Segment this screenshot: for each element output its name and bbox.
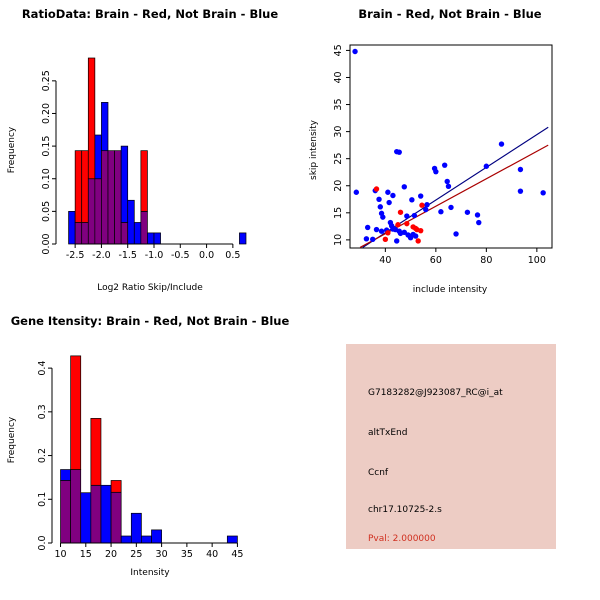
svg-text:-0.5: -0.5 [171, 250, 190, 261]
svg-text:40: 40 [206, 549, 218, 560]
svg-text:40: 40 [333, 71, 344, 83]
svg-text:45: 45 [333, 44, 344, 56]
svg-text:10: 10 [333, 234, 344, 246]
svg-text:0.3: 0.3 [37, 404, 48, 419]
svg-text:0.10: 0.10 [41, 168, 52, 189]
ratio-hist-svg: -2.5-2.0-1.5-1.0-0.50.00.50.000.050.100.… [0, 0, 300, 300]
svg-text:40: 40 [379, 255, 391, 266]
info-pval: Pval: 2.000000 [368, 534, 436, 544]
svg-text:30: 30 [333, 126, 344, 138]
svg-text:0.15: 0.15 [41, 136, 52, 157]
svg-text:10: 10 [54, 549, 66, 560]
scatter-title: Brain - Red, Not Brain - Blue [300, 7, 600, 21]
info-probe-id: G7183282@J923087_RC@i_at [368, 388, 503, 398]
ratio-hist-bars [69, 58, 246, 244]
gene-hist-title: Gene Itensity: Brain - Red, Not Brain - … [0, 314, 300, 328]
svg-text:20: 20 [333, 180, 344, 192]
svg-text:100: 100 [528, 255, 546, 266]
svg-text:80: 80 [480, 255, 492, 266]
svg-text:0.4: 0.4 [37, 361, 48, 376]
svg-text:35: 35 [181, 549, 193, 560]
svg-text:0.5: 0.5 [225, 250, 240, 261]
svg-text:60: 60 [430, 255, 442, 266]
svg-text:25: 25 [130, 549, 142, 560]
info-gene-symbol: Ccnf [368, 468, 388, 478]
svg-text:45: 45 [231, 549, 243, 560]
svg-text:-1.5: -1.5 [118, 250, 137, 261]
scatter-svg: 4060801001015202530354045 [300, 0, 600, 300]
scatter-axes: 4060801001015202530354045 [333, 44, 546, 266]
info-box: G7183282@J923087_RC@i_at altTxEnd Ccnf c… [346, 344, 556, 549]
svg-text:0.05: 0.05 [41, 201, 52, 222]
svg-text:35: 35 [333, 98, 344, 110]
svg-text:15: 15 [80, 549, 92, 560]
ratio-hist-title: RatioData: Brain - Red, Not Brain - Blue [0, 7, 300, 21]
svg-text:-2.0: -2.0 [92, 250, 111, 261]
panel-info: G7183282@J923087_RC@i_at altTxEnd Ccnf c… [300, 300, 600, 600]
scatter-points [352, 49, 546, 244]
svg-text:-1.0: -1.0 [145, 250, 164, 261]
svg-text:15: 15 [333, 207, 344, 219]
gene-hist-bars [61, 356, 238, 543]
svg-text:0.00: 0.00 [41, 233, 52, 254]
svg-text:0.0: 0.0 [199, 250, 214, 261]
svg-text:30: 30 [156, 549, 168, 560]
svg-text:0.25: 0.25 [41, 70, 52, 91]
svg-text:0.20: 0.20 [41, 103, 52, 124]
panel-ratio-histogram: RatioData: Brain - Red, Not Brain - Blue… [0, 0, 300, 300]
svg-text:25: 25 [333, 153, 344, 165]
svg-text:0.2: 0.2 [37, 448, 48, 463]
svg-text:20: 20 [105, 549, 117, 560]
info-coordinate: chr17.10725-2.s [368, 505, 442, 515]
gene-hist-svg: 10152025303540450.00.10.20.30.4 [0, 300, 300, 600]
panel-scatter: Brain - Red, Not Brain - Blue 4060801001… [300, 0, 600, 300]
info-event-type: altTxEnd [368, 428, 407, 438]
svg-text:0.1: 0.1 [37, 492, 48, 507]
svg-text:0.0: 0.0 [37, 535, 48, 550]
svg-text:-2.5: -2.5 [66, 250, 85, 261]
panel-gene-histogram: Gene Itensity: Brain - Red, Not Brain - … [0, 300, 300, 600]
